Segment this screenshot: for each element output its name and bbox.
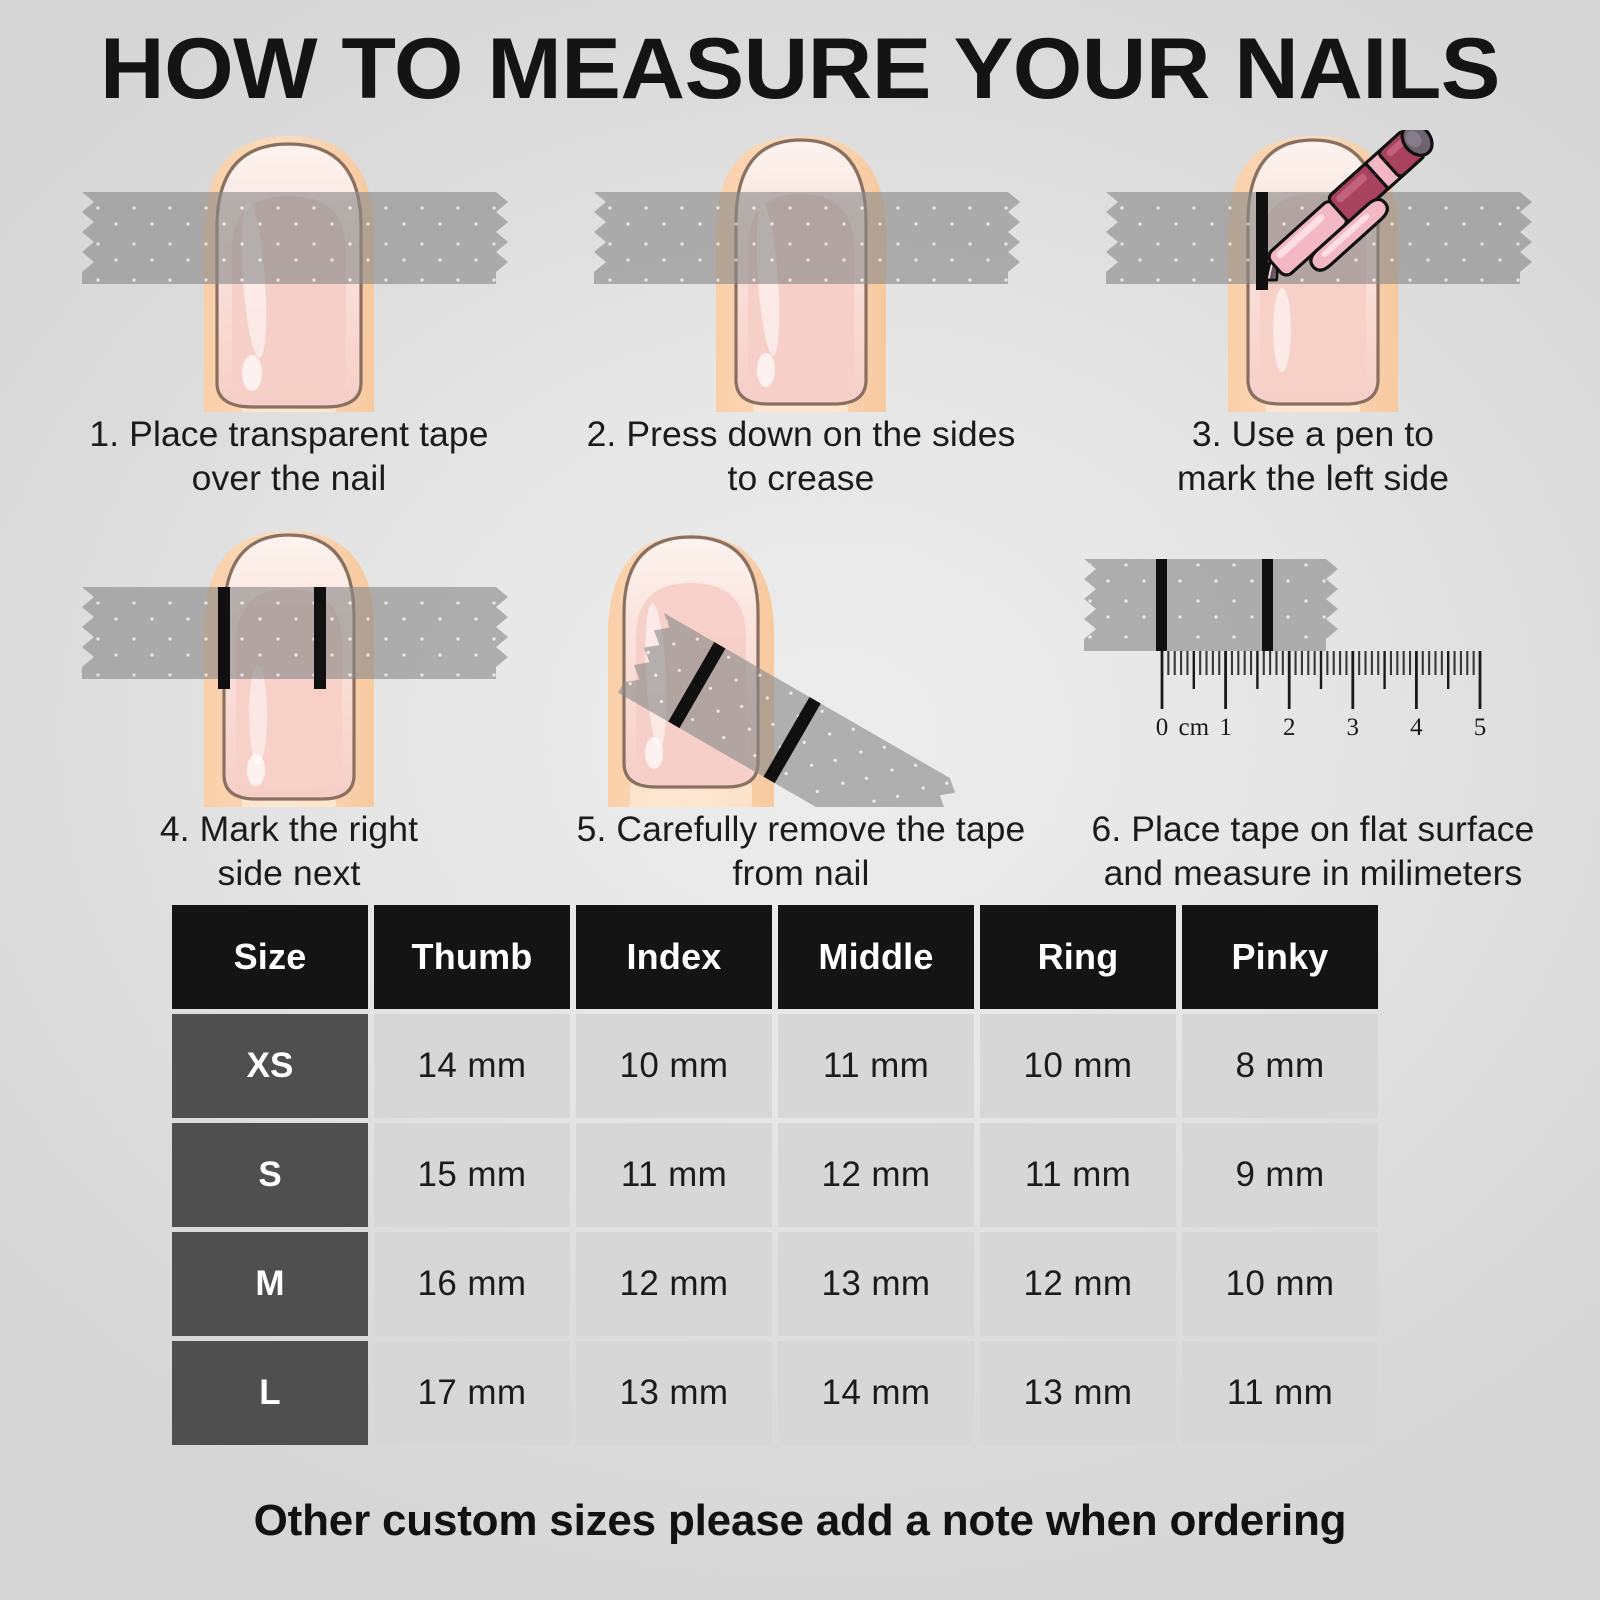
mark-left [1156, 559, 1167, 651]
size-label-l: L [172, 1341, 368, 1445]
size-label-xs: XS [172, 1014, 368, 1118]
cell-xs-pinky: 8 mm [1182, 1014, 1378, 1118]
step-3-caption: 3. Use a pen to mark the left side [1080, 412, 1546, 501]
table-row: S 15 mm 11 mm 12 mm 11 mm 9 mm [172, 1123, 1463, 1227]
ruler-label-1: 1 [1219, 714, 1232, 741]
steps-row-2: 4. Mark the right side next [0, 525, 1600, 910]
cell-xs-index: 10 mm [576, 1014, 772, 1118]
step-5: 5. Carefully remove the tape from nail [568, 525, 1034, 910]
steps-section: 1. Place transparent tape over the nail [0, 130, 1600, 910]
step-1-caption: 1. Place transparent tape over the nail [56, 412, 522, 501]
step-2-caption-line1: 2. Press down on the sides [568, 412, 1034, 456]
cell-s-index: 11 mm [576, 1123, 772, 1227]
cell-s-pinky: 9 mm [1182, 1123, 1378, 1227]
step-1-illustration [56, 130, 522, 412]
cell-s-middle: 12 mm [778, 1123, 974, 1227]
mark-right [314, 587, 326, 689]
ruler-label-5: 5 [1474, 714, 1487, 741]
step-6-illustration: 0 cm 1 2 3 4 5 [1080, 525, 1546, 807]
step-3-caption-line2: mark the left side [1080, 456, 1546, 500]
step-2-illustration [568, 130, 1034, 412]
step-4: 4. Mark the right side next [56, 525, 522, 910]
table-row: M 16 mm 12 mm 13 mm 12 mm 10 mm [172, 1232, 1463, 1336]
cell-xs-ring: 10 mm [980, 1014, 1176, 1118]
step-2: 2. Press down on the sides to crease [568, 130, 1034, 515]
cell-m-index: 12 mm [576, 1232, 772, 1336]
table-row: L 17 mm 13 mm 14 mm 13 mm 11 mm [172, 1341, 1463, 1445]
step-6-caption-line1: 6. Place tape on flat surface [1080, 807, 1546, 851]
cell-m-pinky: 10 mm [1182, 1232, 1378, 1336]
mark-right [1262, 559, 1273, 651]
step-6: 0 cm 1 2 3 4 5 6. Place tape on flat [1080, 525, 1546, 910]
ruler-label-4: 4 [1410, 714, 1423, 741]
steps-row-1: 1. Place transparent tape over the nail [0, 130, 1600, 515]
table-header-thumb: Thumb [374, 905, 570, 1009]
cell-l-index: 13 mm [576, 1341, 772, 1445]
ruler: 0 cm 1 2 3 4 5 [1156, 651, 1487, 741]
step-3-illustration [1080, 130, 1546, 412]
table-row: XS 14 mm 10 mm 11 mm 10 mm 8 mm [172, 1014, 1463, 1118]
cell-l-middle: 14 mm [778, 1341, 974, 1445]
cell-m-ring: 12 mm [980, 1232, 1176, 1336]
cell-m-middle: 13 mm [778, 1232, 974, 1336]
page-title: HOW TO MEASURE YOUR NAILS [0, 26, 1600, 112]
table-header-row: Size Thumb Index Middle Ring Pinky [172, 905, 1463, 1009]
ruler-label-0: 0 [1156, 714, 1169, 741]
step-2-caption: 2. Press down on the sides to crease [568, 412, 1034, 501]
size-label-s: S [172, 1123, 368, 1227]
step-5-caption: 5. Carefully remove the tape from nail [568, 807, 1034, 896]
ruler-label-3: 3 [1347, 714, 1360, 741]
cell-xs-thumb: 14 mm [374, 1014, 570, 1118]
table-header-index: Index [576, 905, 772, 1009]
cell-m-thumb: 16 mm [374, 1232, 570, 1336]
step-3-caption-line1: 3. Use a pen to [1080, 412, 1546, 456]
size-chart-table: Size Thumb Index Middle Ring Pinky XS 14… [172, 905, 1463, 1450]
tape-strip-flat [1084, 559, 1338, 651]
tape-strip [82, 587, 508, 679]
step-1-caption-line1: 1. Place transparent tape [56, 412, 522, 456]
ruler-label-cm: cm [1179, 714, 1210, 741]
ruler-label-2: 2 [1283, 714, 1296, 741]
table-header-pinky: Pinky [1182, 905, 1378, 1009]
size-label-m: M [172, 1232, 368, 1336]
step-5-caption-line1: 5. Carefully remove the tape [568, 807, 1034, 851]
table-header-size: Size [172, 905, 368, 1009]
step-4-caption-line1: 4. Mark the right [56, 807, 522, 851]
step-1-caption-line2: over the nail [56, 456, 522, 500]
step-6-caption: 6. Place tape on flat surface and measur… [1080, 807, 1546, 896]
cell-l-thumb: 17 mm [374, 1341, 570, 1445]
table-header-middle: Middle [778, 905, 974, 1009]
infographic-page: HOW TO MEASURE YOUR NAILS [0, 0, 1600, 1600]
footer-note: Other custom sizes please add a note whe… [0, 1496, 1600, 1546]
mark-left [218, 587, 230, 689]
step-6-caption-line2: and measure in milimeters [1080, 851, 1546, 895]
table-header-ring: Ring [980, 905, 1176, 1009]
step-5-caption-line2: from nail [568, 851, 1034, 895]
cell-l-pinky: 11 mm [1182, 1341, 1378, 1445]
tape-strip-creased [594, 192, 1020, 284]
step-4-caption: 4. Mark the right side next [56, 807, 522, 896]
cell-xs-middle: 11 mm [778, 1014, 974, 1118]
step-5-illustration [568, 525, 1034, 807]
tape-strip [82, 192, 508, 284]
step-3: 3. Use a pen to mark the left side [1080, 130, 1546, 515]
cell-l-ring: 13 mm [980, 1341, 1176, 1445]
cell-s-thumb: 15 mm [374, 1123, 570, 1227]
step-1: 1. Place transparent tape over the nail [56, 130, 522, 515]
step-4-caption-line2: side next [56, 851, 522, 895]
step-4-illustration [56, 525, 522, 807]
step-2-caption-line2: to crease [568, 456, 1034, 500]
cell-s-ring: 11 mm [980, 1123, 1176, 1227]
